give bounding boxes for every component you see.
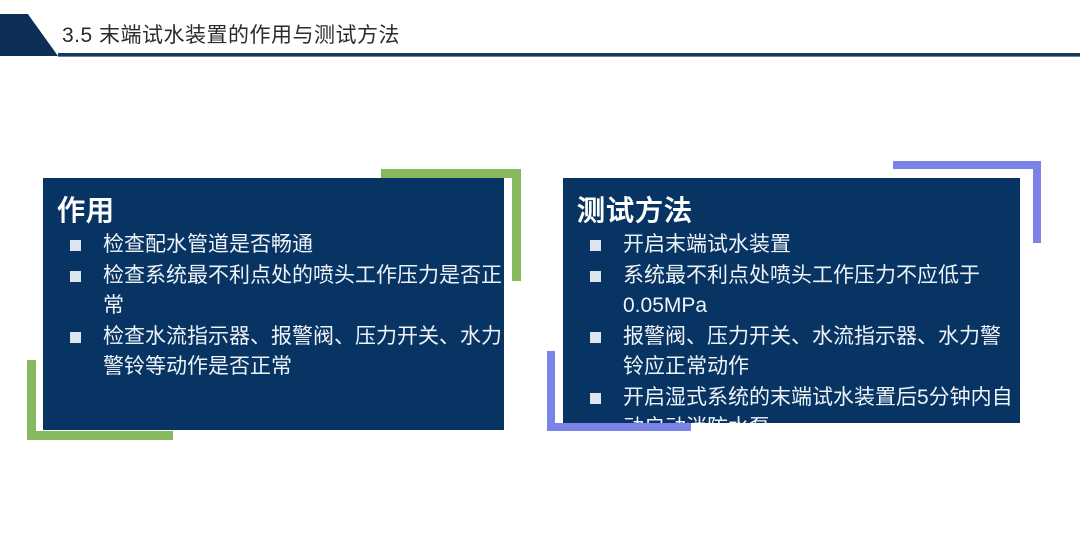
- list-item-text: 开启湿式系统的末端试水装置后5分钟内自动启动消防水泵: [623, 386, 1013, 423]
- list-item: 检查系统最不利点处的喷头工作压力是否正常: [57, 261, 504, 321]
- bracket-horizontal-bar: [893, 161, 1041, 169]
- list-item: 开启末端试水装置: [577, 230, 1020, 260]
- square-bullet-icon: [590, 240, 601, 251]
- list-item: 检查水流指示器、报警阀、压力开关、水力警铃等动作是否正常: [57, 322, 504, 382]
- list-item-text: 报警阀、压力开关、水流指示器、水力警铃应正常动作: [623, 325, 1001, 378]
- list-item-text: 检查配水管道是否畅通: [103, 233, 313, 256]
- bracket-vertical-bar: [1033, 161, 1041, 243]
- square-bullet-icon: [590, 393, 601, 404]
- card-purpose-bullet-list: 检查配水管道是否畅通 检查系统最不利点处的喷头工作压力是否正常 检查水流指示器、…: [57, 230, 504, 382]
- list-item: 系统最不利点处喷头工作压力不应低于0.05MPa: [577, 261, 1020, 321]
- square-bullet-icon: [70, 240, 81, 251]
- card-test-method-bullet-list: 开启末端试水装置 系统最不利点处喷头工作压力不应低于0.05MPa 报警阀、压力…: [577, 230, 1020, 423]
- bracket-vertical-bar: [27, 360, 36, 440]
- bracket-horizontal-bar: [547, 423, 691, 431]
- bracket-horizontal-bar: [27, 431, 173, 440]
- card-purpose-title: 作用: [57, 194, 504, 228]
- header-divider-shadow: [58, 56, 1080, 57]
- card-test-method: 测试方法 开启末端试水装置 系统最不利点处喷头工作压力不应低于0.05MPa 报…: [563, 178, 1020, 423]
- square-bullet-icon: [70, 271, 81, 282]
- page-title: 3.5 末端试水装置的作用与测试方法: [62, 22, 400, 50]
- bracket-vertical-bar: [512, 169, 521, 281]
- list-item-text: 系统最不利点处喷头工作压力不应低于0.05MPa: [623, 264, 980, 317]
- bracket-vertical-bar: [547, 351, 555, 431]
- list-item-text: 开启末端试水装置: [623, 233, 791, 256]
- square-bullet-icon: [590, 332, 601, 343]
- list-item: 报警阀、压力开关、水流指示器、水力警铃应正常动作: [577, 322, 1020, 382]
- square-bullet-icon: [590, 271, 601, 282]
- list-item: 检查配水管道是否畅通: [57, 230, 504, 260]
- card-purpose: 作用 检查配水管道是否畅通 检查系统最不利点处的喷头工作压力是否正常 检查水流指…: [43, 178, 504, 430]
- bracket-horizontal-bar: [381, 169, 521, 178]
- square-bullet-icon: [70, 332, 81, 343]
- header-accent-shape: [0, 14, 58, 56]
- list-item-text: 检查水流指示器、报警阀、压力开关、水力警铃等动作是否正常: [103, 325, 502, 378]
- list-item-text: 检查系统最不利点处的喷头工作压力是否正常: [103, 264, 502, 317]
- slide-canvas: 3.5 末端试水装置的作用与测试方法 作用 检查配水管道是否畅通 检查系统最不利…: [0, 0, 1080, 544]
- card-test-method-title: 测试方法: [577, 194, 1020, 228]
- list-item: 开启湿式系统的末端试水装置后5分钟内自动启动消防水泵: [577, 383, 1020, 423]
